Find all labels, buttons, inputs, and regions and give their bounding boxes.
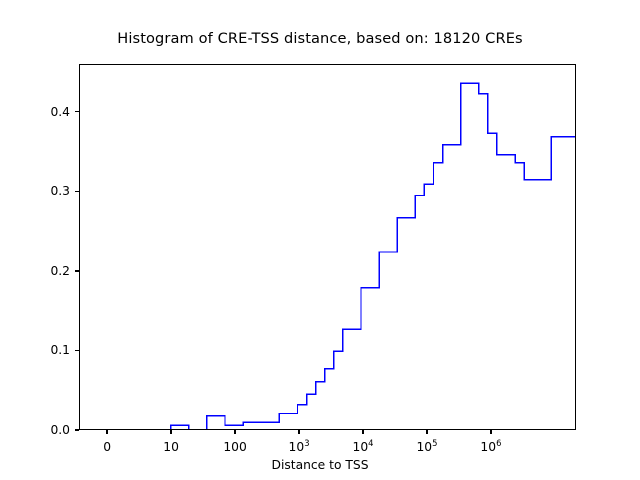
x-tick-label: 100 xyxy=(223,440,246,454)
x-tick-label: 106 xyxy=(480,440,501,454)
histogram-path xyxy=(80,83,575,429)
x-tick-mark xyxy=(362,430,363,434)
x-axis-label: Distance to TSS xyxy=(0,458,640,472)
x-tick-mark xyxy=(298,430,299,434)
x-tick-mark xyxy=(106,430,107,434)
x-tick-label: 0 xyxy=(103,440,111,454)
x-tick-mark xyxy=(426,430,427,434)
x-tick-label: 10 xyxy=(163,440,179,454)
x-tick-mark xyxy=(170,430,171,434)
x-tick-mark xyxy=(490,430,491,434)
y-tick-label: 0.1 xyxy=(50,343,70,357)
y-tick-label: 0.2 xyxy=(50,264,70,278)
plot-area xyxy=(79,64,576,430)
x-tick-label: 104 xyxy=(353,440,374,454)
x-tick-mark xyxy=(234,430,235,434)
page-title: Histogram of CRE-TSS distance, based on:… xyxy=(0,30,640,47)
y-tick-label: 0.4 xyxy=(50,105,70,119)
y-axis: 0.00.10.20.30.4 xyxy=(0,0,79,480)
y-tick-label: 0.3 xyxy=(50,184,70,198)
x-tick-label: 103 xyxy=(289,440,310,454)
x-tick-label: 105 xyxy=(416,440,437,454)
y-tick-label: 0.0 xyxy=(50,423,70,437)
figure-canvas: Histogram of CRE-TSS distance, based on:… xyxy=(0,0,640,480)
plot-inner xyxy=(80,65,575,429)
histogram-step-line xyxy=(80,65,575,429)
